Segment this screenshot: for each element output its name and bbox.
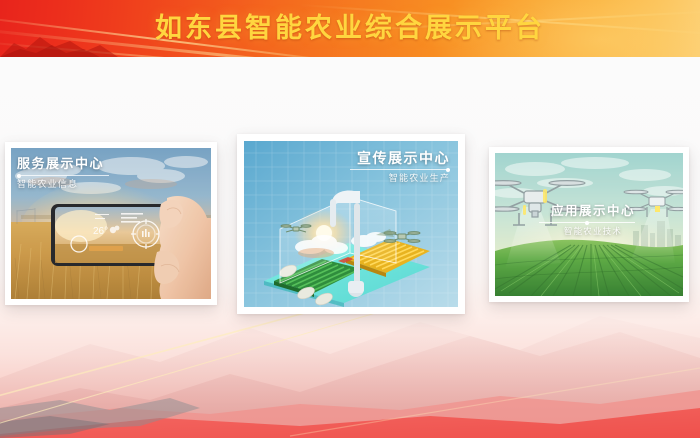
card-promotion-text: 宣传展示中心 智能农业生产: [350, 150, 450, 185]
card-promotion-divider: [350, 169, 450, 170]
card-service-display-center[interactable]: 26° 服务展示中心 智能农业信息: [5, 142, 217, 305]
card-service-text: 服务展示中心 智能农业信息: [17, 156, 109, 191]
card-application-divider: [539, 222, 635, 223]
card-promotion-title: 宣传展示中心: [350, 150, 450, 166]
card-service-divider: [17, 175, 109, 176]
card-service-title: 服务展示中心: [17, 156, 109, 172]
card-promotion-subtitle: 智能农业生产: [350, 172, 450, 185]
card-service-subtitle: 智能农业信息: [17, 178, 109, 191]
card-promotion-display-center[interactable]: 宣传展示中心 智能农业生产: [237, 134, 465, 314]
card-application-text: 应用展示中心 智能农业技术: [539, 203, 647, 238]
header-banner: 如东县智能农业综合展示平台: [0, 0, 700, 57]
card-application-display-center[interactable]: 应用展示中心 智能农业技术: [489, 147, 689, 302]
card-application-subtitle: 智能农业技术: [539, 225, 647, 238]
card-application-title: 应用展示中心: [539, 203, 647, 219]
page-title: 如东县智能农业综合展示平台: [0, 9, 700, 47]
